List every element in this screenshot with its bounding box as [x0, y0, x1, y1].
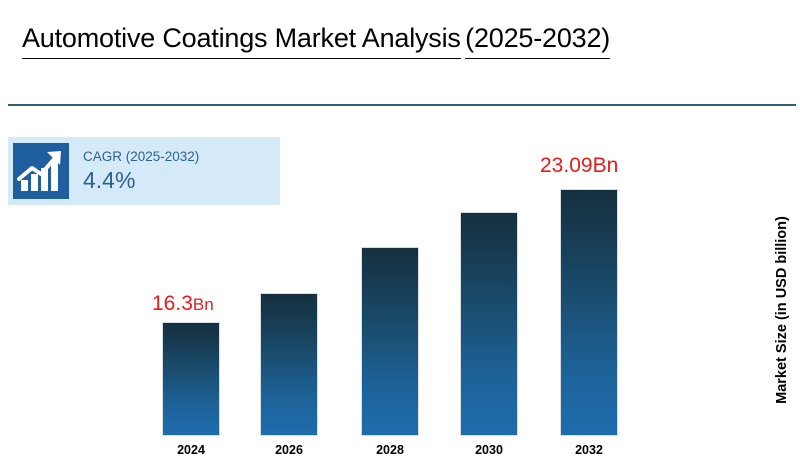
bar-2030[interactable] — [460, 212, 518, 436]
bar-label-2032: 23.09Bn — [540, 155, 618, 176]
x-tick-2030: 2030 — [449, 443, 529, 457]
x-tick-2028: 2028 — [350, 443, 430, 457]
bar-label-2032-unit: Bn — [593, 154, 619, 177]
bar-label-2032-number: 23.09 — [540, 154, 593, 177]
bar-2028[interactable] — [361, 247, 419, 436]
x-tick-2026: 2026 — [249, 443, 329, 457]
y-axis-title: Market Size (in USD billion) — [774, 216, 790, 404]
bar-2024[interactable] — [162, 322, 220, 436]
bar-label-2024-unit: Bn — [193, 295, 214, 314]
bar-2026[interactable] — [260, 293, 318, 436]
bar-chart: 16.3Bn 23.09Bn 2024 2026 2028 2030 2032 … — [0, 0, 800, 474]
bar-2032[interactable] — [560, 189, 618, 436]
x-tick-2032: 2032 — [549, 443, 629, 457]
x-tick-2024: 2024 — [151, 443, 231, 457]
bar-label-2024: 16.3Bn — [152, 293, 214, 315]
bar-label-2024-number: 16.3 — [152, 292, 193, 315]
